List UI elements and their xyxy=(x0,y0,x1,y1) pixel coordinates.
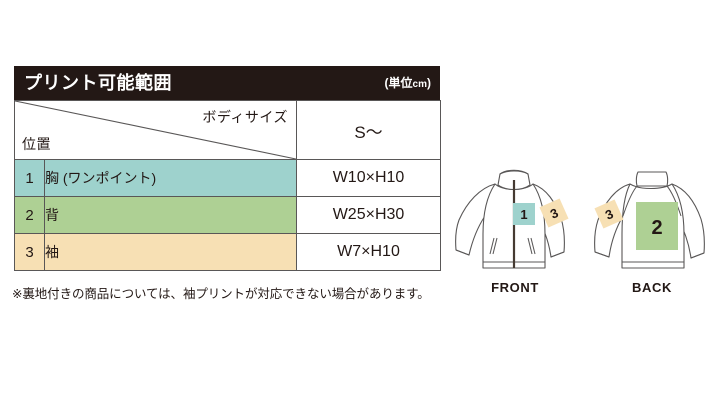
unit-note: (単位cm) xyxy=(385,77,431,90)
jacket-back-graphic: 2 3 xyxy=(592,158,712,278)
unit-note-close: ) xyxy=(427,76,431,90)
row-size: W7×H10 xyxy=(297,234,441,271)
print-area-table: ボディサイズ 位置 S〜 1 胸 (ワンポイント) W10×H10 2 背 W2… xyxy=(14,100,441,271)
table-row: 2 背 W25×H30 xyxy=(15,197,441,234)
row-place: 背 xyxy=(45,197,297,234)
row-number: 3 xyxy=(15,234,45,271)
header-position-label: 位置 xyxy=(22,134,51,154)
row-place: 袖 xyxy=(45,234,297,271)
table-row: 3 袖 W7×H10 xyxy=(15,234,441,271)
row-place: 胸 (ワンポイント) xyxy=(45,160,297,197)
jacket-back-illustration: 2 3 BACK xyxy=(592,158,712,295)
front-view-label: FRONT xyxy=(455,280,575,295)
row-size: W10×H10 xyxy=(297,160,441,197)
unit-note-main: (単位 xyxy=(385,76,413,90)
print-area-spec-sheet: プリント可能範囲 (単位cm) ボディサイズ 位置 S〜 xyxy=(0,0,720,400)
row-size: W25×H30 xyxy=(297,197,441,234)
print-marker-chest-number: 1 xyxy=(520,207,527,222)
header-size-column: S〜 xyxy=(297,101,441,160)
jacket-front-illustration: 1 3 FRONT xyxy=(455,158,575,295)
table-title-bar: プリント可能範囲 (単位cm) xyxy=(14,66,440,100)
row-number: 2 xyxy=(15,197,45,234)
print-marker-back-number: 2 xyxy=(651,217,662,239)
row-number: 1 xyxy=(15,160,45,197)
unit-note-small: cm xyxy=(413,79,427,90)
table-title: プリント可能範囲 xyxy=(24,74,172,92)
header-body-size-label: ボディサイズ xyxy=(202,107,288,127)
header-diagonal-cell: ボディサイズ 位置 xyxy=(15,101,297,160)
footnote-line-1: ※裏地付きの商品については、袖プリントが対応できない場合があります。 xyxy=(12,285,482,303)
footnote-block: ※裏地付きの商品については、袖プリントが対応できない場合があります。 xyxy=(12,285,482,303)
back-view-label: BACK xyxy=(592,280,712,295)
jacket-front-graphic: 1 3 xyxy=(455,158,575,278)
table-header-row: ボディサイズ 位置 S〜 xyxy=(15,101,441,160)
table-row: 1 胸 (ワンポイント) W10×H10 xyxy=(15,160,441,197)
print-area-table-block: プリント可能範囲 (単位cm) ボディサイズ 位置 S〜 xyxy=(14,66,440,271)
